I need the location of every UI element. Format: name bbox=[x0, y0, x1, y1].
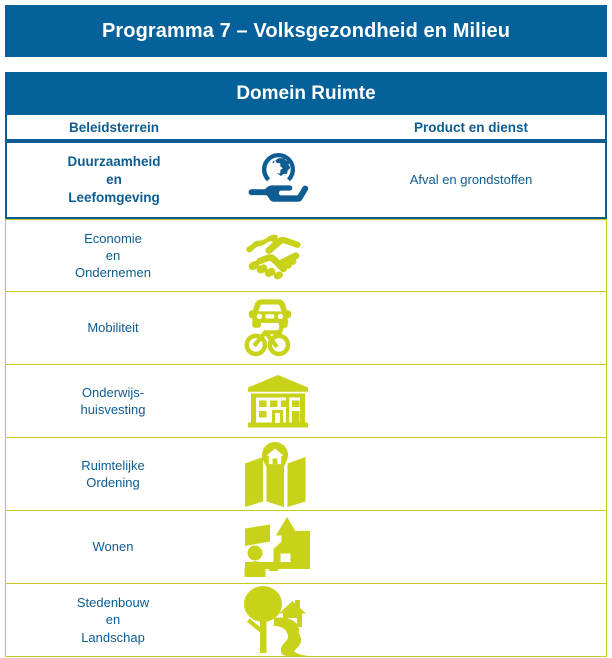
policy-area-label: Onderwijs-huisvesting bbox=[80, 384, 145, 418]
column-header-product-service-label: Product en dienst bbox=[414, 120, 528, 135]
policy-area-label: StedenbouwenLandschap bbox=[77, 594, 149, 645]
policy-area-line: Onderwijs- bbox=[80, 384, 145, 401]
car-and-bicycle-icon bbox=[224, 294, 332, 362]
policy-area-line: Ruimtelijke bbox=[81, 457, 145, 474]
table-row: StedenbouwenLandschap bbox=[5, 584, 607, 657]
product-service-cell bbox=[336, 438, 604, 510]
icon-cell bbox=[221, 143, 337, 217]
table-row: RuimtelijkeOrdening bbox=[5, 438, 607, 511]
column-header-product-service: Product en dienst bbox=[337, 115, 605, 139]
tree-house-path-icon bbox=[224, 586, 332, 654]
policy-area-cell: Mobiliteit bbox=[6, 292, 220, 364]
product-service-cell bbox=[336, 511, 604, 583]
column-header-icon-spacer bbox=[221, 115, 337, 139]
policy-area-line: en bbox=[77, 611, 149, 628]
policy-area-line: Landschap bbox=[77, 629, 149, 646]
product-service-cell bbox=[336, 292, 604, 364]
product-service-label: Afval en grondstoffen bbox=[410, 172, 533, 189]
product-service-cell bbox=[336, 584, 604, 656]
policy-area-line: Stedenbouw bbox=[77, 594, 149, 611]
policy-area-line: en bbox=[75, 247, 151, 264]
domain-header: Domein Ruimte bbox=[5, 72, 607, 115]
policy-area-cell: RuimtelijkeOrdening bbox=[6, 438, 220, 510]
icon-cell bbox=[220, 511, 336, 583]
policy-area-cell: EconomieenOndernemen bbox=[6, 220, 220, 291]
page-title: Programma 7 – Volksgezondheid en Milieu bbox=[102, 20, 510, 43]
icon-cell bbox=[220, 438, 336, 510]
table-body: DuurzaamheidenLeefomgeving Afval en gron… bbox=[5, 141, 607, 657]
school-building-icon bbox=[224, 367, 332, 435]
column-header-policy-area-label: Beleidsterrein bbox=[69, 120, 159, 135]
table-row: EconomieenOndernemen bbox=[5, 219, 607, 292]
table-row: DuurzaamheidenLeefomgeving Afval en gron… bbox=[5, 141, 607, 219]
policy-area-label: Wonen bbox=[93, 538, 134, 555]
product-service-cell: Afval en grondstoffen bbox=[337, 143, 605, 217]
domain-title: Domein Ruimte bbox=[236, 83, 375, 105]
policy-area-line: Mobiliteit bbox=[87, 319, 138, 336]
icon-cell bbox=[220, 584, 336, 656]
policy-area-cell: DuurzaamheidenLeefomgeving bbox=[7, 143, 221, 217]
policy-area-line: Wonen bbox=[93, 538, 134, 555]
column-header-policy-area: Beleidsterrein bbox=[7, 115, 221, 139]
policy-area-line: Duurzaamheid bbox=[67, 153, 160, 171]
table-row: Mobiliteit bbox=[5, 292, 607, 365]
icon-cell bbox=[220, 365, 336, 437]
policy-area-line: Economie bbox=[75, 230, 151, 247]
policy-area-label: RuimtelijkeOrdening bbox=[81, 457, 145, 491]
domain-table: Domein Ruimte Beleidsterrein Product en … bbox=[5, 72, 607, 657]
policy-area-line: huisvesting bbox=[80, 401, 145, 418]
globe-in-hand-icon bbox=[225, 145, 333, 215]
policy-area-cell: Wonen bbox=[6, 511, 220, 583]
person-and-houses-icon bbox=[224, 513, 332, 581]
policy-area-label: Mobiliteit bbox=[87, 319, 138, 336]
map-with-house-pin-icon bbox=[224, 440, 332, 508]
policy-area-line: en bbox=[67, 171, 160, 189]
policy-area-cell: Onderwijs-huisvesting bbox=[6, 365, 220, 437]
policy-area-line: Leefomgeving bbox=[67, 189, 160, 207]
policy-area-cell: StedenbouwenLandschap bbox=[6, 584, 220, 656]
policy-area-line: Ondernemen bbox=[75, 264, 151, 281]
table-row: Onderwijs-huisvesting bbox=[5, 365, 607, 438]
icon-cell bbox=[220, 292, 336, 364]
page-root: Programma 7 – Volksgezondheid en Milieu … bbox=[0, 0, 612, 658]
handshake-icon bbox=[224, 222, 332, 289]
policy-area-label: DuurzaamheidenLeefomgeving bbox=[67, 153, 160, 206]
product-service-cell bbox=[336, 365, 604, 437]
policy-area-label: EconomieenOndernemen bbox=[75, 230, 151, 281]
table-column-header-row: Beleidsterrein Product en dienst bbox=[5, 115, 607, 141]
icon-cell bbox=[220, 220, 336, 291]
program-title-banner: Programma 7 – Volksgezondheid en Milieu bbox=[5, 5, 607, 57]
product-service-cell bbox=[336, 220, 604, 291]
policy-area-line: Ordening bbox=[81, 474, 145, 491]
table-row: Wonen bbox=[5, 511, 607, 584]
